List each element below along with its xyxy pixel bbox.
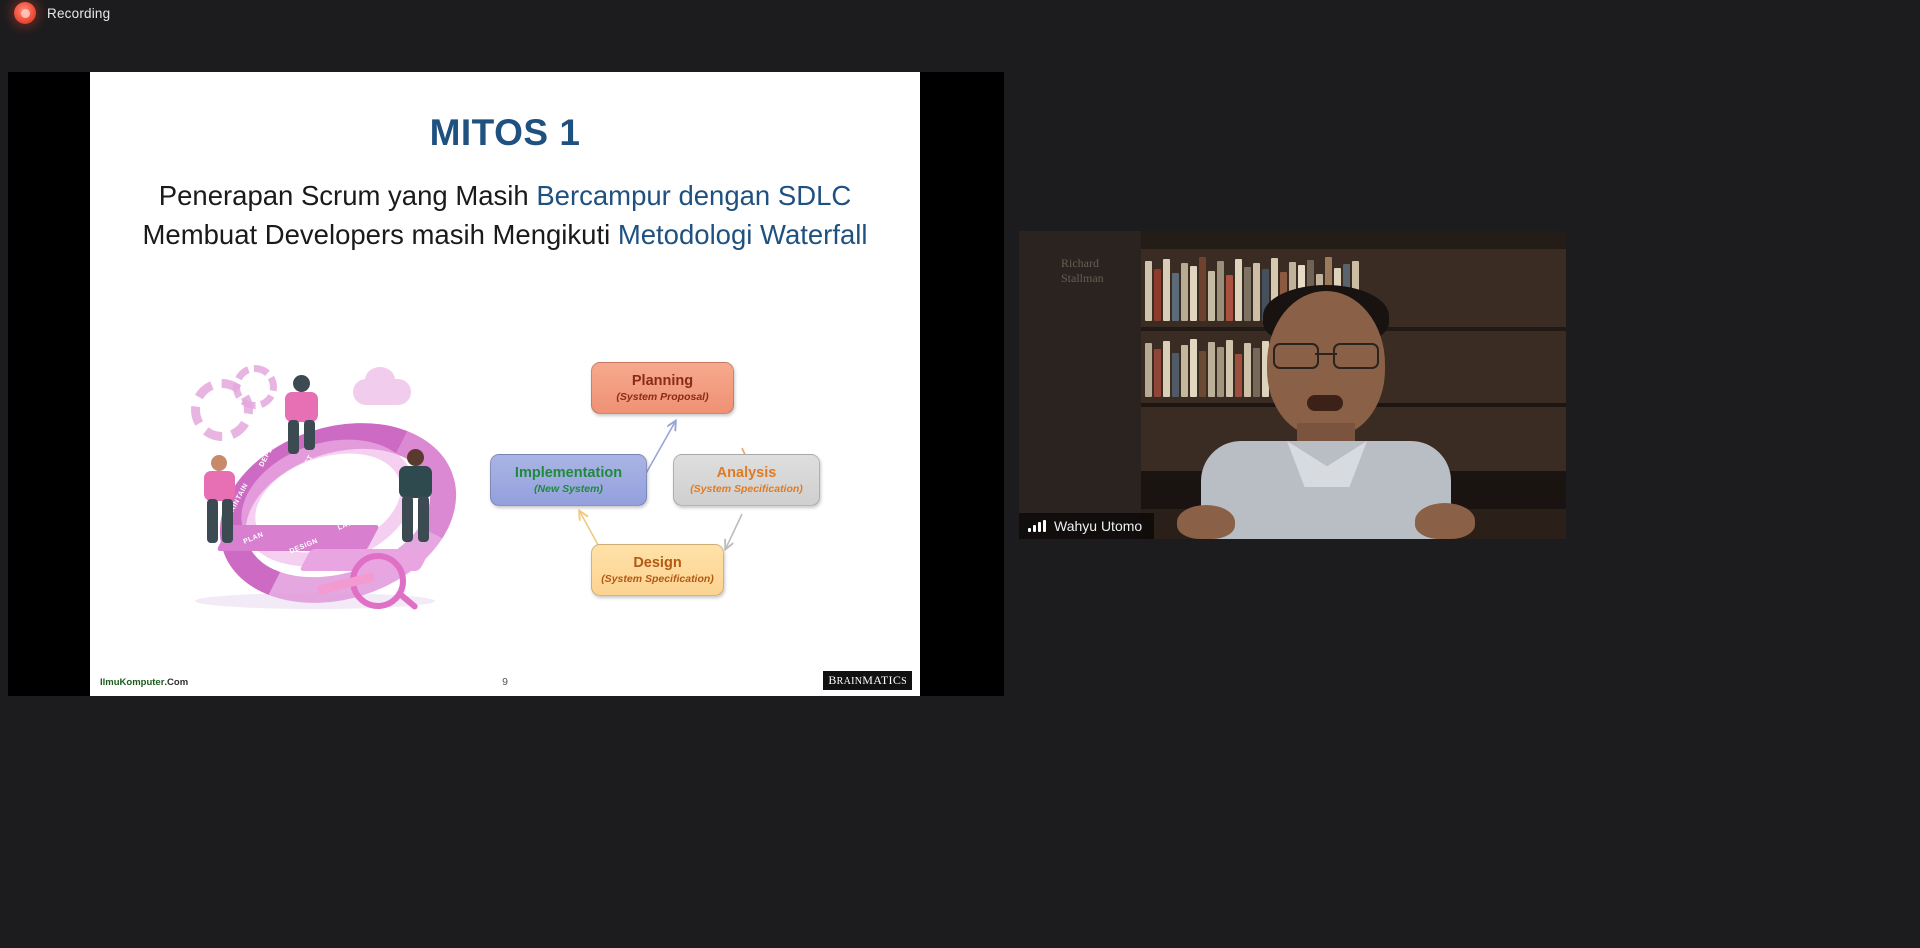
brainmatics-logo: BRAINMATICS [823, 671, 912, 690]
node-title: Implementation [515, 465, 622, 481]
poster-line-1: Richard [1061, 256, 1104, 271]
signal-bars-icon [1028, 520, 1046, 532]
diagram-node-implementation[interactable]: Implementation (New System) [490, 454, 647, 506]
illus-person-3-leg-right [418, 496, 429, 542]
logo-part-c: MATIC [862, 673, 901, 687]
illus-person-1-leg-left [288, 420, 299, 454]
body-highlight-1: Bercampur dengan SDLC [536, 180, 851, 211]
waterfall-cycle-diagram: Planning (System Proposal) Analysis (Sys… [490, 362, 850, 622]
body-highlight-2: Metodologi Waterfall [618, 219, 868, 250]
node-title: Planning [632, 373, 693, 389]
recording-bar: Recording [0, 0, 1920, 26]
participant-name-badge: Wahyu Utomo [1019, 513, 1154, 539]
illus-person-3-torso [399, 466, 432, 498]
presentation-slide: MITOS 1 Penerapan Scrum yang Masih Berca… [90, 72, 920, 696]
illus-person-1-torso [285, 392, 318, 422]
slide-body-text: Penerapan Scrum yang Masih Bercampur den… [130, 176, 880, 254]
node-subtitle: (System Specification) [690, 483, 803, 496]
illus-person-2-leg-right [222, 499, 233, 543]
cloud-icon [353, 379, 411, 405]
poster-line-2: Stallman [1061, 271, 1104, 286]
node-subtitle: (System Specification) [601, 573, 714, 586]
recording-label: Recording [47, 6, 110, 21]
poster-text: Richard Stallman [1061, 256, 1104, 286]
illus-person-1-head [293, 375, 310, 392]
node-subtitle: (System Proposal) [616, 391, 708, 404]
shared-screen-stage[interactable]: MITOS 1 Penerapan Scrum yang Masih Berca… [8, 72, 1004, 696]
logo-part-d: S [901, 676, 907, 687]
shirt [1201, 441, 1451, 539]
slide-title: MITOS 1 [90, 112, 920, 154]
body-segment-2: Membuat Developers masih Mengikuti [143, 219, 618, 250]
illus-person-2-torso [204, 471, 235, 501]
diagram-node-planning[interactable]: Planning (System Proposal) [591, 362, 734, 414]
participant-figure [1159, 291, 1489, 539]
participant-video-tile[interactable]: Richard Stallman [1019, 231, 1566, 539]
logo-part-b: RAIN [837, 676, 863, 687]
node-subtitle: (New System) [534, 483, 603, 496]
illus-person-3-leg-left [402, 496, 413, 542]
hand-right [1415, 503, 1475, 539]
hand-left [1177, 505, 1235, 539]
diagram-node-analysis[interactable]: Analysis (System Specification) [673, 454, 820, 506]
body-segment-1: Penerapan Scrum yang Masih [159, 180, 537, 211]
wall-poster: Richard Stallman [1019, 231, 1141, 539]
logo-part-a: B [828, 673, 836, 687]
teamwork-illustration: PLAN DESIGN DEVELOP TEST DEPLOY LAUNCH M… [185, 357, 465, 617]
node-title: Analysis [717, 465, 777, 481]
diagram-node-design[interactable]: Design (System Specification) [591, 544, 724, 596]
slide-page-number: 9 [90, 676, 920, 688]
screen-share-app: Recording MITOS 1 Penerapan Scrum yang M… [0, 0, 1920, 948]
illus-person-2-head [211, 455, 227, 471]
participant-name: Wahyu Utomo [1054, 518, 1142, 534]
illus-person-3-head [407, 449, 424, 466]
illus-person-2-leg-left [207, 499, 218, 543]
record-dot-icon[interactable] [14, 2, 36, 24]
gear-small-icon [233, 365, 277, 409]
illus-person-1-leg-right [304, 420, 315, 450]
eyeglasses-icon [1273, 343, 1379, 365]
node-title: Design [633, 555, 681, 571]
mouth [1307, 395, 1343, 411]
